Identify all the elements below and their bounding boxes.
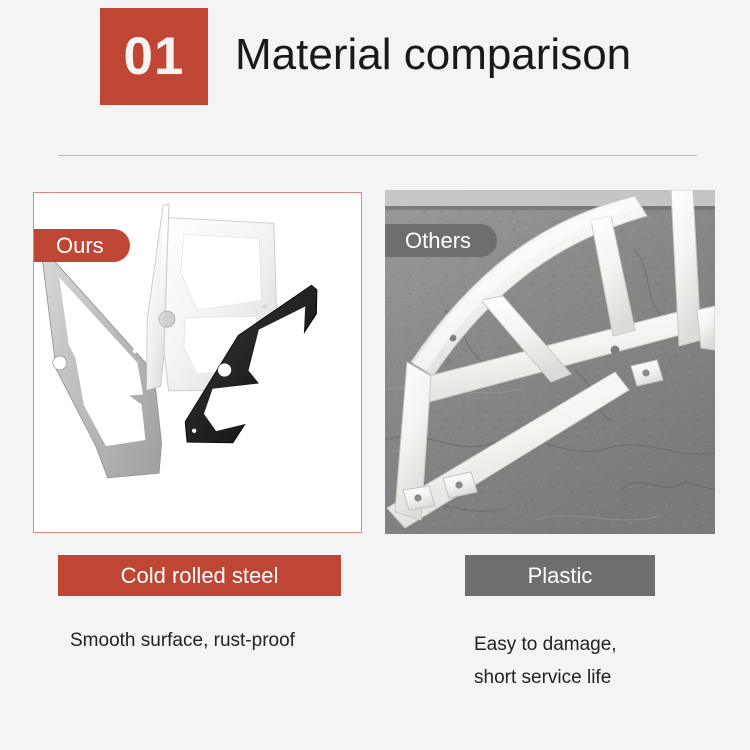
others-tag-label: Others — [405, 230, 471, 252]
ours-tag-label: Ours — [56, 235, 104, 257]
plastic-description-line-2: short service life — [474, 661, 694, 694]
cold-rolled-steel-caption-bar: Cold rolled steel — [58, 555, 341, 596]
plastic-label: Plastic — [528, 565, 593, 587]
header-divider — [58, 155, 697, 156]
page-title: Material comparison — [235, 30, 631, 80]
others-tag: Others — [385, 224, 497, 257]
plastic-caption-bar: Plastic — [465, 555, 655, 596]
ours-comparison-panel: Ours — [33, 192, 362, 533]
others-comparison-panel: Others — [385, 190, 715, 534]
section-number-badge: 01 — [100, 8, 208, 105]
cold-rolled-steel-description: Smooth surface, rust-proof — [70, 631, 295, 650]
ours-tag: Ours — [34, 229, 130, 262]
plastic-description-line-1: Easy to damage, — [474, 628, 694, 661]
cold-rolled-steel-label: Cold rolled steel — [121, 565, 279, 587]
page-header: 01 Material comparison — [0, 0, 750, 130]
section-number-label: 01 — [124, 30, 185, 83]
plastic-description: Easy to damage, short service life — [474, 628, 694, 695]
